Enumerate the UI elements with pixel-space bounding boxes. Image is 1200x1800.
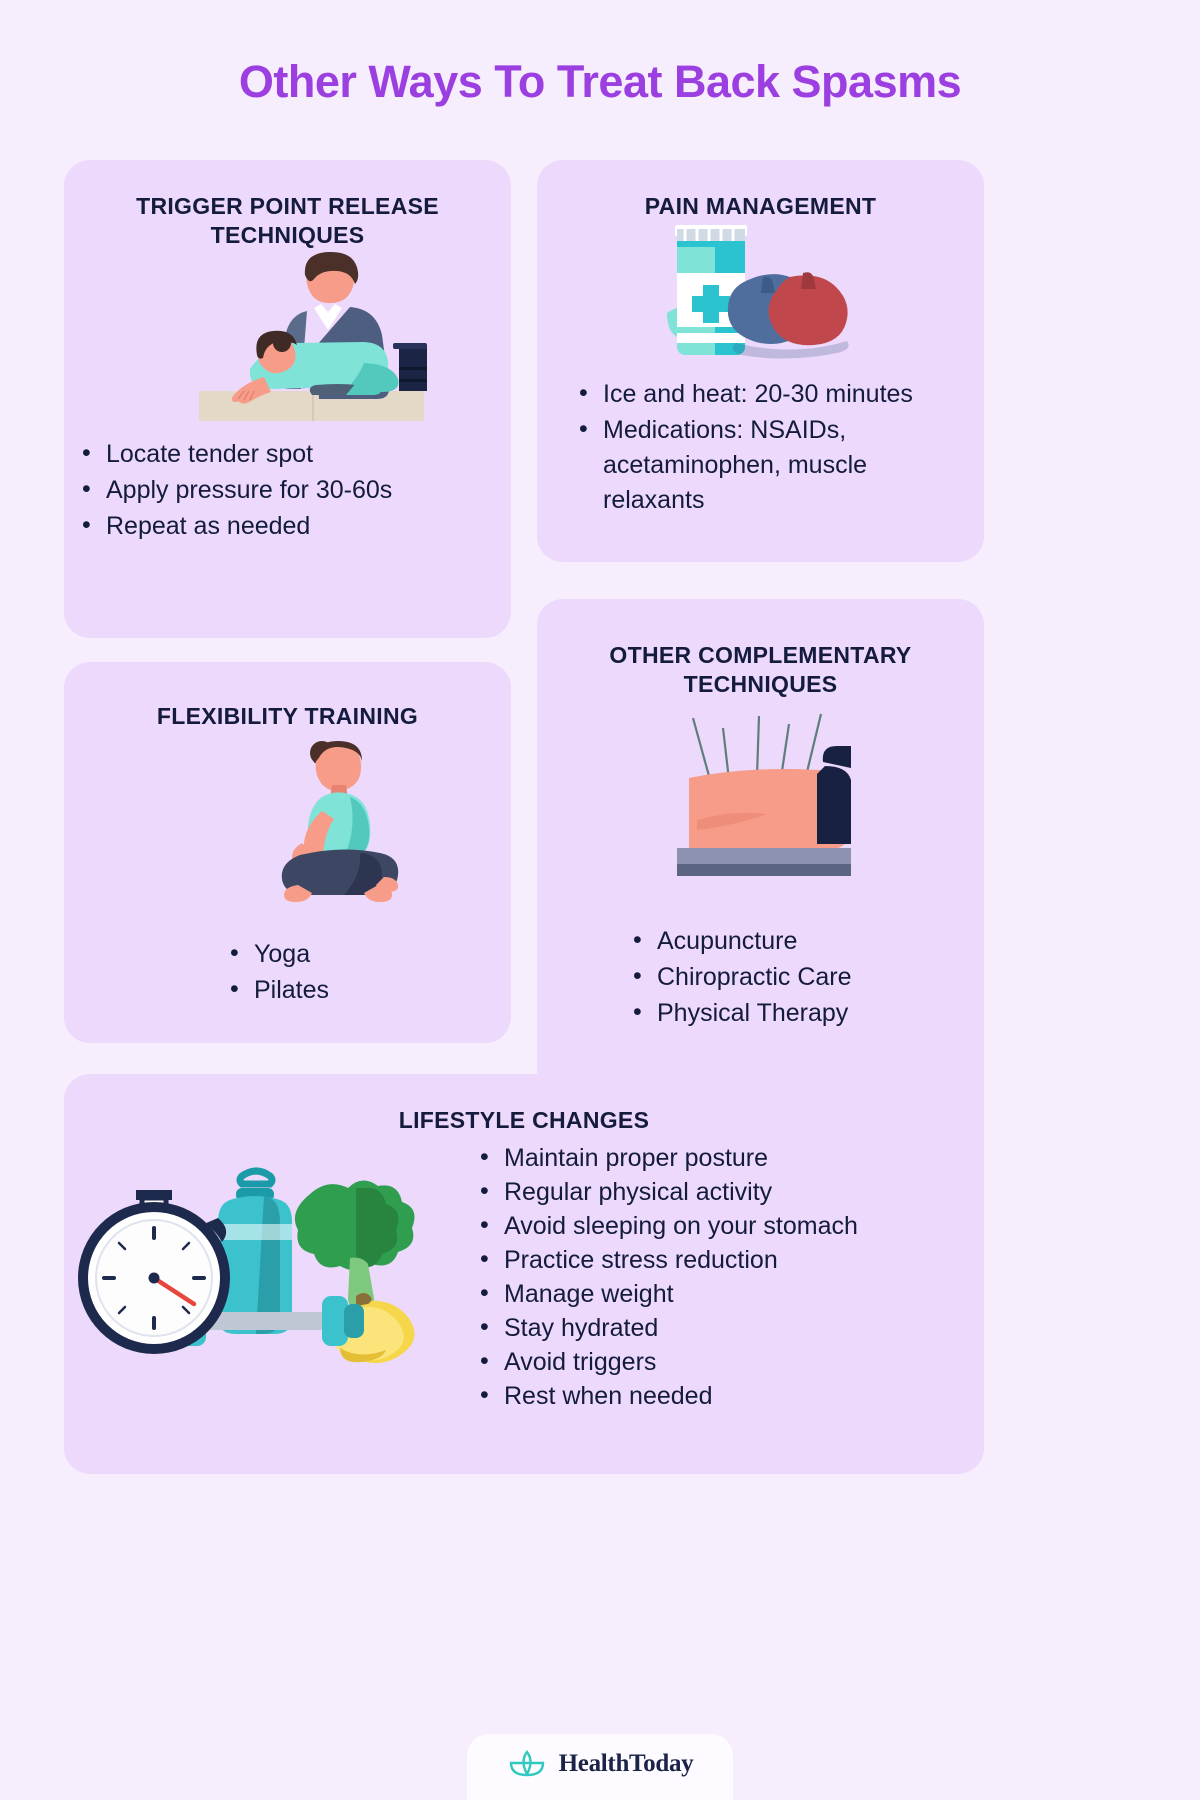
list-item: Avoid triggers — [474, 1345, 858, 1380]
list-item: Yoga — [224, 937, 511, 972]
list-item: Rest when needed — [474, 1379, 858, 1414]
card-pain-management: Pain Management — [537, 160, 984, 562]
lotus-icon — [507, 1750, 547, 1778]
list-item: Avoid sleeping on your stomach — [474, 1209, 858, 1244]
bullet-list: Ice and heat: 20-30 minutes Medications:… — [573, 377, 960, 518]
page-title: Other Ways To Treat Back Spasms — [0, 0, 1200, 107]
list-item: Repeat as needed — [76, 509, 511, 544]
list-item: Pilates — [224, 973, 511, 1008]
list-item: Ice and heat: 20-30 minutes — [573, 377, 960, 412]
brand-name: HealthToday — [559, 1750, 694, 1778]
card-title: Other Complementary Techniques — [587, 641, 934, 700]
card-lifestyle-changes: Lifestyle Changes — [64, 1074, 984, 1474]
footer: HealthToday — [0, 1720, 1200, 1800]
bullet-list: Locate tender spot Apply pressure for 30… — [76, 437, 511, 544]
list-item: Acupuncture — [627, 924, 984, 959]
card-flexibility-training: Flexibility Training — [64, 662, 511, 1043]
card-trigger-point: Trigger Point Release Techniques — [64, 160, 511, 638]
card-title: Lifestyle Changes — [64, 1106, 984, 1135]
list-item: Regular physical activity — [474, 1175, 858, 1210]
list-item: Chiropractic Care — [627, 960, 984, 995]
card-title: Pain Management — [567, 192, 954, 221]
infographic-page: Other Ways To Treat Back Spasms Trigger … — [0, 0, 1200, 1800]
bullet-list: Maintain proper posture Regular physical… — [474, 1141, 858, 1413]
list-item: Maintain proper posture — [474, 1141, 858, 1176]
bullet-list: Yoga Pilates — [224, 937, 511, 1008]
stopwatch-waterbottle-dumbbell-vegetables-illustration — [64, 1162, 444, 1392]
bullet-list: Acupuncture Chiropractic Care Physical T… — [627, 924, 984, 1031]
brand-logo[interactable]: HealthToday — [467, 1734, 734, 1800]
yoga-seated-pose-illustration — [64, 731, 511, 931]
list-item: Medications: NSAIDs, acetaminophen, musc… — [573, 413, 960, 518]
list-item: Apply pressure for 30-60s — [76, 473, 511, 508]
medicine-bottle-and-ice-heat-pack-illustration — [537, 221, 984, 369]
list-item: Practice stress reduction — [474, 1243, 858, 1278]
list-item: Manage weight — [474, 1277, 858, 1312]
card-title: Flexibility Training — [94, 702, 481, 731]
card-title: Trigger Point Release Techniques — [98, 192, 477, 251]
list-item: Physical Therapy — [627, 996, 984, 1031]
list-item: Locate tender spot — [76, 437, 511, 472]
acupuncture-needles-back-illustration — [537, 700, 984, 918]
list-item: Stay hydrated — [474, 1311, 858, 1346]
massage-therapist-illustration — [64, 251, 511, 433]
